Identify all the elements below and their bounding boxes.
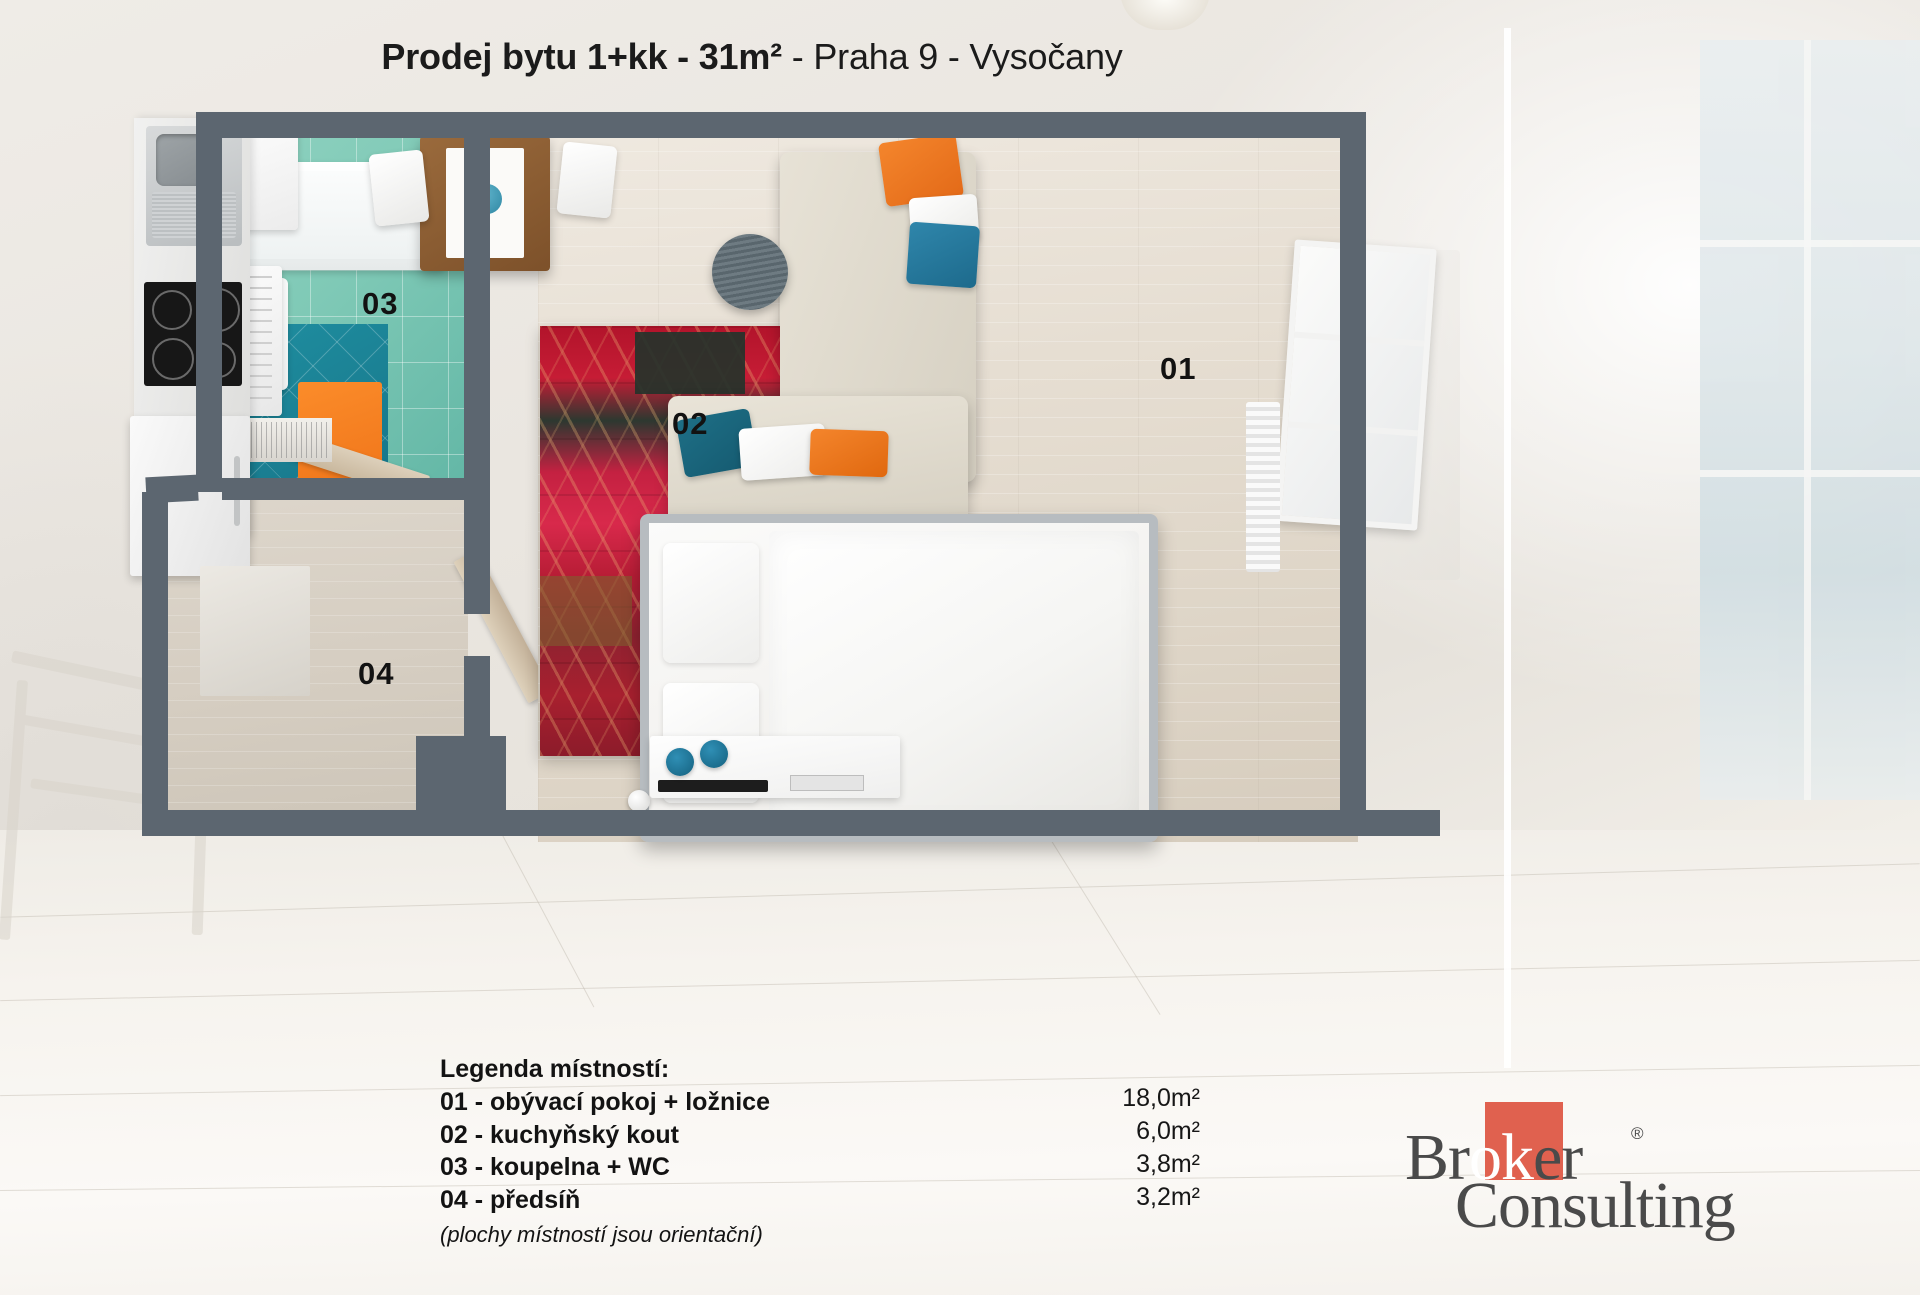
bed-frame-knob-icon [628,790,650,812]
logo-word-consulting: Consulting [1455,1168,1735,1244]
decor-circle-icon [666,748,694,776]
floorplan-render: 03 02 01 04 [120,96,1460,836]
legend: Legenda místností: 01 - obývací pokoj + … [440,1055,1000,1248]
registered-trademark-icon: ® [1631,1124,1644,1144]
cooktop [144,282,242,386]
wall-bath-bottom [222,478,490,500]
pillow-orange [809,429,889,478]
decor-circle-icon [700,740,728,768]
room-label-04: 04 [358,656,394,692]
legend-item-01: 01 - obývací pokoj + ložnice [440,1086,1000,1119]
kitchen-sink [146,126,242,246]
title-bold: Prodej bytu 1+kk - 31m² [381,36,782,77]
room-label-01: 01 [1160,351,1196,387]
pillow-blue [906,222,980,289]
room-label-03: 03 [362,286,398,322]
page-title: Prodej bytu 1+kk - 31m² - Praha 9 - Vyso… [0,36,1504,78]
ceiling-lamp [1120,0,1210,30]
title-rest: - Praha 9 - Vysočany [782,36,1123,77]
wall-left-lower [142,492,168,836]
area-value-02: 6,0m² [1020,1115,1200,1148]
background-window [1700,40,1920,800]
wall-top [196,112,1366,138]
radiator [1246,402,1280,572]
area-value-03: 3,8m² [1020,1148,1200,1181]
wall-bath-right [464,112,490,494]
wall-bottom [142,810,1440,836]
broker-consulting-logo: Broker ® Consulting [1405,1090,1755,1250]
room-label-02: 02 [672,406,708,442]
kitchen-lower-cabinet [200,566,310,696]
legend-heading: Legenda místností: [440,1055,1000,1084]
wall-left-upper [196,112,222,492]
wall-right [1340,112,1366,822]
wall-pillar [416,736,506,836]
area-value-01: 18,0m² [1020,1082,1200,1115]
wall-hall-right-upper [464,494,490,614]
area-value-04: 3,2m² [1020,1181,1200,1214]
legend-item-03: 03 - koupelna + WC [440,1151,1000,1184]
vertical-divider [1504,28,1511,1068]
dining-chair [556,141,617,218]
round-ottoman [712,234,788,310]
area-values: 18,0m² 6,0m² 3,8m² 3,2m² [1020,1082,1200,1214]
legend-item-02: 02 - kuchyňský kout [440,1119,1000,1152]
legend-item-04: 04 - předsíň [440,1184,1000,1217]
dining-chair [368,149,429,226]
legend-note: (plochy místností jsou orientační) [440,1222,1000,1248]
